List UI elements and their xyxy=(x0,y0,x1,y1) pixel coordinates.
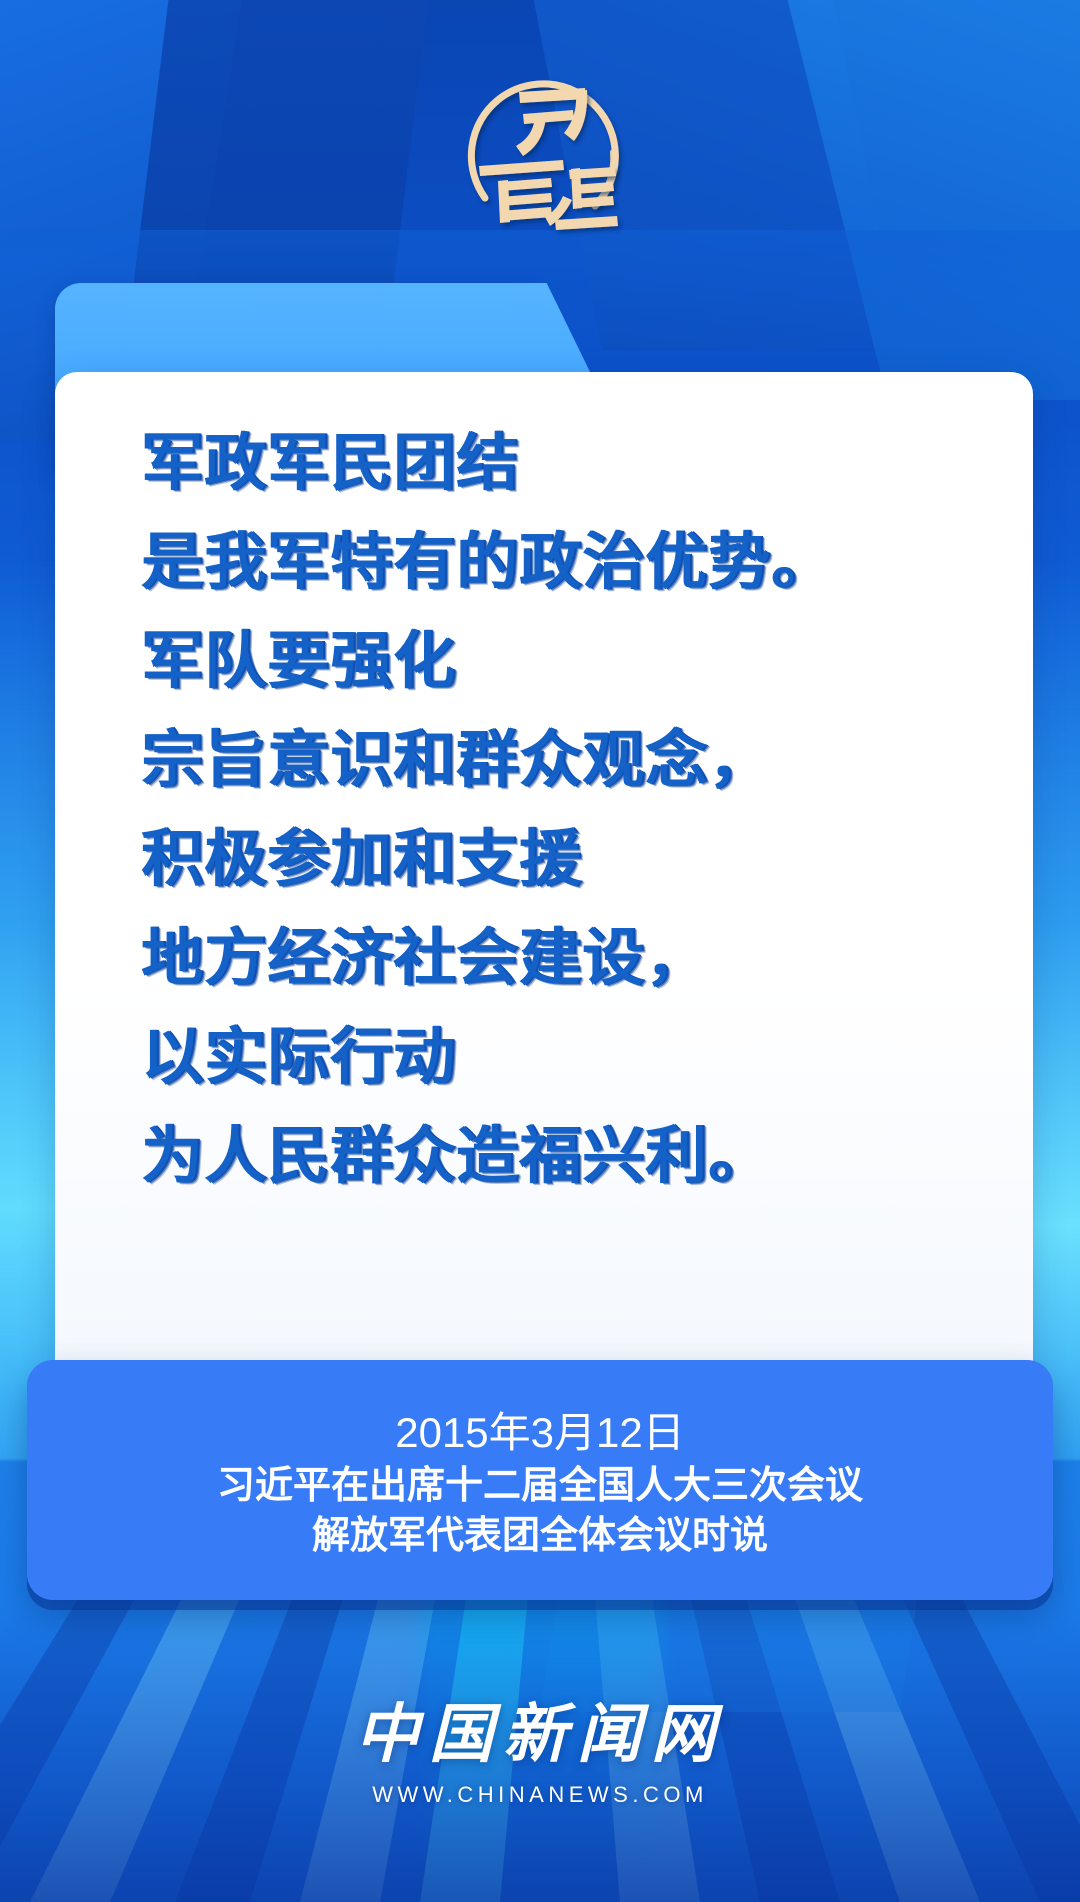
quote-text-block: 军政军民团结 是我军特有的政治优势。 军队要强化 宗旨意识和群众观念， 积极参加… xyxy=(141,414,993,1206)
quote-line: 军队要强化 xyxy=(141,612,993,711)
quote-line: 宗旨意识和群众观念， xyxy=(141,711,993,810)
xi-yan-dao-seal-icon xyxy=(445,48,635,238)
poster-root: 军政军民团结 是我军特有的政治优势。 军队要强化 宗旨意识和群众观念， 积极参加… xyxy=(0,0,1080,1902)
footer-branding: 中国新闻网 WWW.CHINANEWS.COM xyxy=(0,1700,1080,1808)
quote-line: 军政军民团结 xyxy=(141,414,993,513)
chinanews-url: WWW.CHINANEWS.COM xyxy=(372,1782,708,1808)
quote-card: 军政军民团结 是我军特有的政治优势。 军队要强化 宗旨意识和群众观念， 积极参加… xyxy=(55,372,1033,1362)
attribution-date: 2015年3月12日 xyxy=(395,1405,685,1461)
attribution-box: 2015年3月12日 习近平在出席十二届全国人大三次会议 解放军代表团全体会议时… xyxy=(27,1360,1053,1600)
quote-line: 为人民群众造福兴利。 xyxy=(141,1107,993,1206)
quote-line: 地方经济社会建设， xyxy=(141,909,993,1008)
chinanews-logo-text: 中国新闻网 xyxy=(355,1700,725,1770)
quote-line: 是我军特有的政治优势。 xyxy=(141,513,993,612)
quote-line: 以实际行动 xyxy=(141,1008,993,1107)
quote-line: 积极参加和支援 xyxy=(141,810,993,909)
brand-seal-container xyxy=(0,38,1080,248)
attribution-source-line-2: 解放军代表团全体会议时说 xyxy=(312,1511,768,1561)
attribution-source-line-1: 习近平在出席十二届全国人大三次会议 xyxy=(217,1461,863,1511)
